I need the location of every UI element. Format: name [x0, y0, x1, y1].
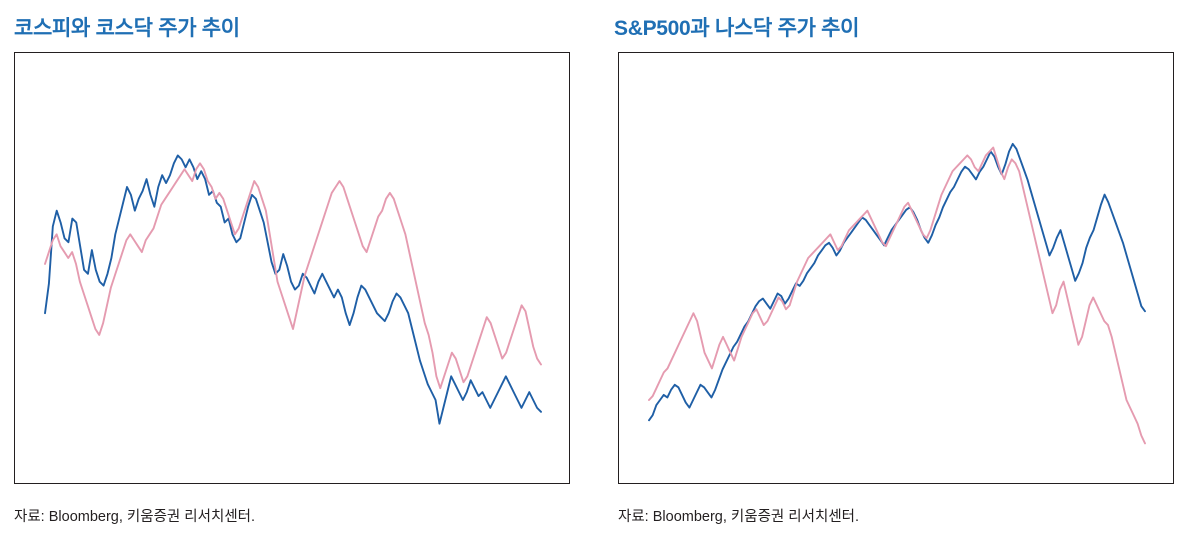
page-title: S&P500과 나스닥 주가 추이 [614, 12, 859, 42]
plot-area [618, 52, 1174, 484]
series-line [45, 155, 541, 423]
source-note: 자료: Bloomberg, 키움증권 리서치센터. [14, 505, 255, 526]
series-line [45, 163, 541, 388]
series-line [649, 148, 1145, 444]
charts-page: 코스피와 코스닥 주가 추이 (p)t (pt) 코스피(좌) 코스닥(우) 3… [0, 0, 1200, 552]
page-title: 코스피와 코스닥 주가 추이 [14, 12, 240, 42]
chart-svg [619, 53, 1173, 483]
chart-svg [15, 53, 569, 483]
panel-sp500-nasdaq: S&P500과 나스닥 주가 추이 (pt) (pt) S&P500(좌) 나스… [600, 0, 1200, 552]
series-line [649, 144, 1145, 420]
panel-kospi-kosdaq: 코스피와 코스닥 주가 추이 (p)t (pt) 코스피(좌) 코스닥(우) 3… [0, 0, 600, 552]
plot-area [14, 52, 570, 484]
source-note: 자료: Bloomberg, 키움증권 리서치센터. [618, 505, 859, 526]
